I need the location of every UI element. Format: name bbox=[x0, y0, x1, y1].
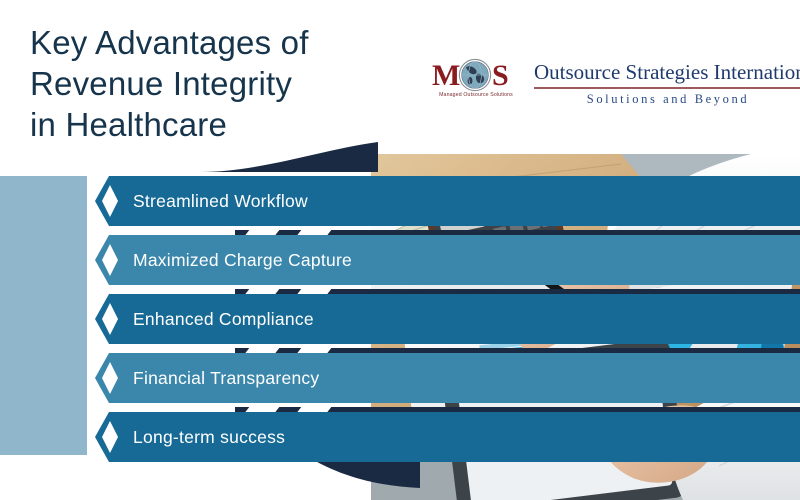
mos-letter-s: S bbox=[492, 60, 509, 92]
chevron-diamond-icon bbox=[102, 244, 118, 276]
advantage-label-5: Long-term success bbox=[133, 427, 285, 448]
chevron-diamond-icon bbox=[102, 362, 118, 394]
list-item: Streamlined Workflow bbox=[0, 176, 800, 234]
title-line-3: in Healthcare bbox=[30, 104, 420, 145]
infographic-slide: Key Advantages of Revenue Integrity in H… bbox=[0, 0, 800, 500]
company-name-block: Outsource Strategies International Solut… bbox=[534, 58, 800, 107]
advantage-label-4: Financial Transparency bbox=[133, 368, 319, 389]
list-item: Financial Transparency bbox=[0, 353, 800, 411]
page-title: Key Advantages of Revenue Integrity in H… bbox=[30, 22, 420, 145]
chevron-diamond-icon bbox=[102, 303, 118, 335]
mos-logo-mark: M S Managed Outsource Solutions bbox=[430, 58, 522, 110]
brand-logo: M S Managed Outsource Solutions Outsourc… bbox=[430, 58, 800, 110]
advantage-banner-5[interactable]: Long-term success bbox=[95, 412, 800, 462]
mos-letter-m: M bbox=[432, 60, 460, 92]
chevron-diamond-icon bbox=[102, 421, 118, 453]
advantage-banner-1[interactable]: Streamlined Workflow bbox=[95, 176, 800, 226]
advantage-banner-3[interactable]: Enhanced Compliance bbox=[95, 294, 800, 344]
title-line-2: Revenue Integrity bbox=[30, 63, 420, 104]
mos-subtitle: Managed Outsource Solutions bbox=[430, 92, 522, 98]
chevron-diamond-icon bbox=[102, 185, 118, 217]
list-item: Maximized Charge Capture bbox=[0, 235, 800, 293]
logo-divider bbox=[534, 87, 800, 89]
list-item: Long-term success bbox=[0, 412, 800, 470]
advantage-banner-4[interactable]: Financial Transparency bbox=[95, 353, 800, 403]
advantage-label-3: Enhanced Compliance bbox=[133, 309, 314, 330]
advantage-banner-2[interactable]: Maximized Charge Capture bbox=[95, 235, 800, 285]
title-line-1: Key Advantages of bbox=[30, 22, 420, 63]
advantages-list: Streamlined Workflow Maximized Charge Ca… bbox=[0, 160, 800, 490]
company-tagline: Solutions and Beyond bbox=[534, 92, 800, 107]
advantage-label-1: Streamlined Workflow bbox=[133, 191, 308, 212]
globe-icon bbox=[458, 58, 492, 92]
advantage-label-2: Maximized Charge Capture bbox=[133, 250, 352, 271]
list-item: Enhanced Compliance bbox=[0, 294, 800, 352]
company-name: Outsource Strategies International bbox=[534, 60, 800, 84]
